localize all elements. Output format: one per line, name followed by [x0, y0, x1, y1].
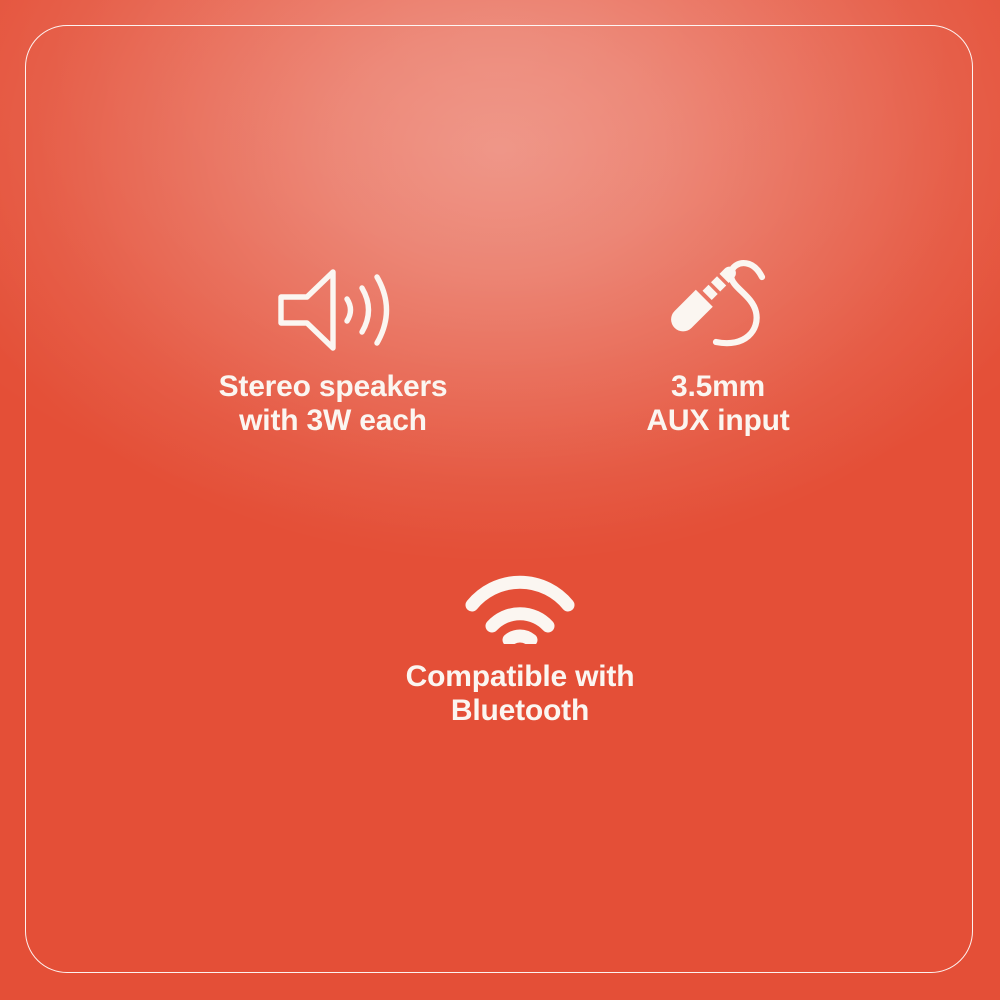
aux-jack-plug-icon	[568, 262, 868, 354]
feature-list: Stereo speakers with 3W each	[0, 0, 1000, 1000]
speaker-volume-icon	[163, 262, 503, 354]
feature-caption-bluetooth: Compatible with Bluetooth	[350, 660, 690, 728]
wireless-signal-icon-svg	[464, 568, 576, 644]
aux-jack-plug-icon-svg	[659, 258, 777, 354]
product-feature-panel: Stereo speakers with 3W each	[0, 0, 1000, 1000]
feature-item-aux-input: 3.5mm AUX input	[568, 262, 868, 438]
speaker-volume-icon-svg	[271, 266, 395, 354]
feature-caption-stereo-speakers: Stereo speakers with 3W each	[163, 370, 503, 438]
feature-caption-aux-input: 3.5mm AUX input	[568, 370, 868, 438]
feature-item-bluetooth: Compatible with Bluetooth	[350, 552, 690, 728]
wireless-signal-icon	[350, 552, 690, 644]
feature-item-stereo-speakers: Stereo speakers with 3W each	[163, 262, 503, 438]
